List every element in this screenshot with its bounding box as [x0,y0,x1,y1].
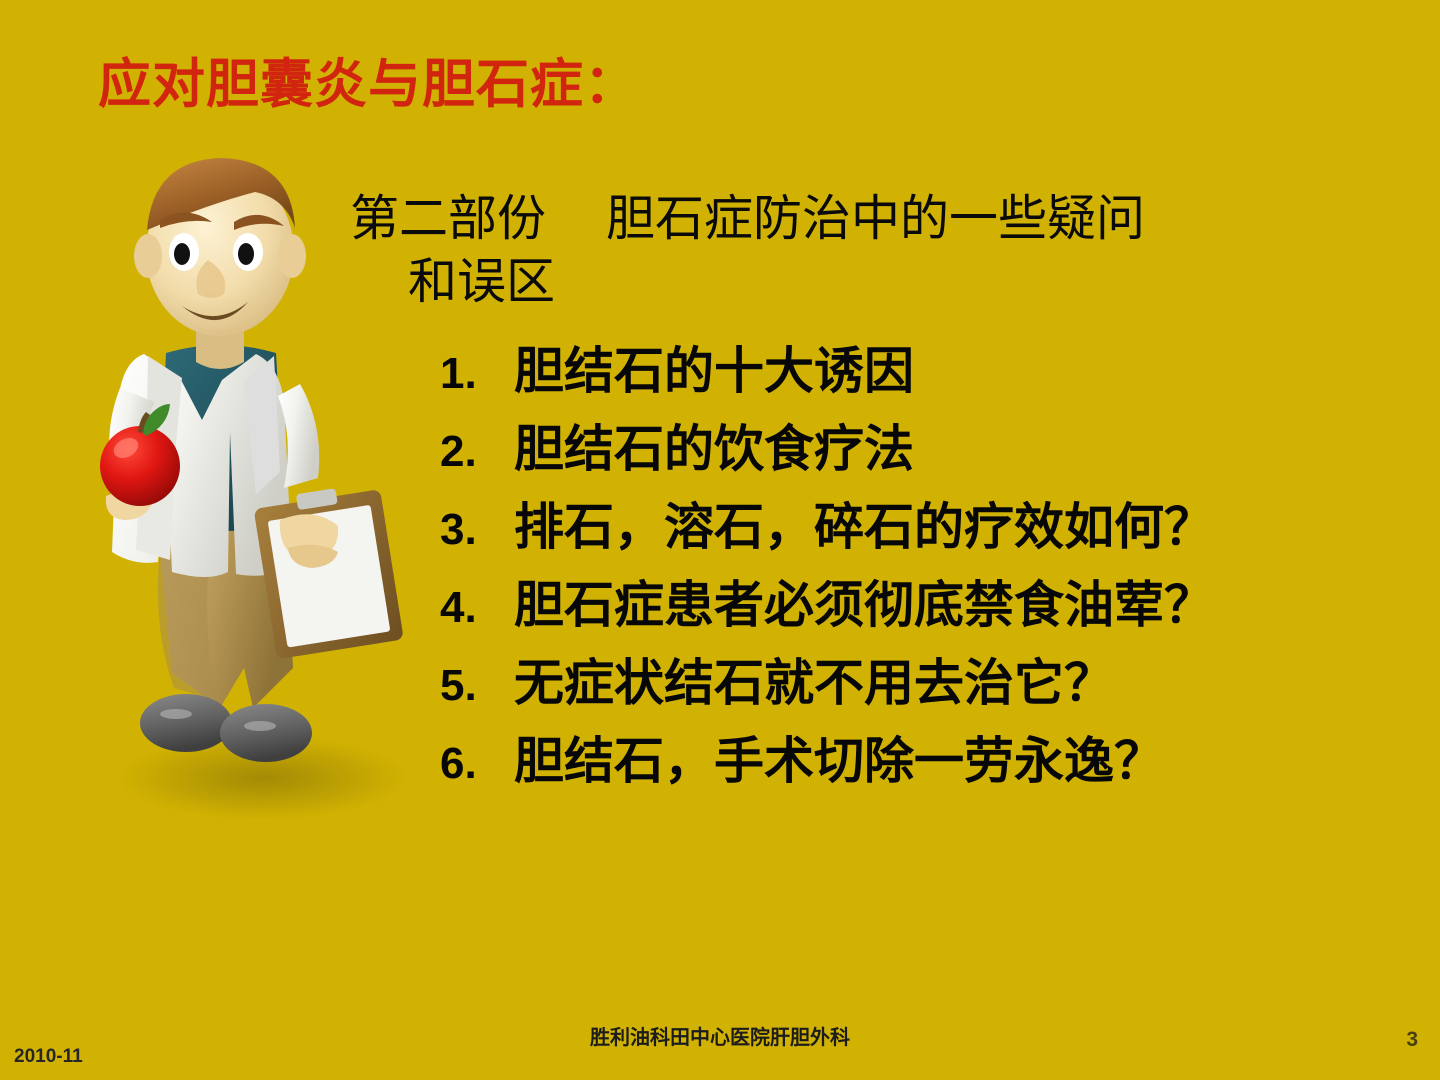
list-item-number: 5. [440,649,514,723]
footer-organization: 胜利油科田中心医院肝胆外科 [0,1021,1440,1050]
list-item: 2. 胆结石的饮食疗法 [440,412,1340,490]
list-item-label: 胆石症患者必须彻底禁食油荤？ [514,568,1214,642]
subtitle-part: 第二部份 [350,191,546,246]
list-item: 1. 胆结石的十大诱因 [440,334,1340,412]
subtitle-line2: 和误区 [350,251,1330,314]
subtitle-block: 第二部份胆石症防治中的一些疑问 和误区 [350,188,1330,313]
question-list: 1. 胆结石的十大诱因 2. 胆结石的饮食疗法 3. 排石，溶石，碎石的疗效如何… [440,334,1340,802]
ear-right [278,234,306,278]
list-item-label: 胆结石的饮食疗法 [514,412,914,486]
list-item-label: 胆结石的十大诱因 [514,334,914,408]
list-item-number: 4. [440,571,514,645]
list-item-label: 胆结石，手术切除一劳永逸？ [514,724,1164,798]
list-item-number: 1. [440,337,514,411]
list-item-label: 排石，溶石，碎石的疗效如何？ [514,490,1214,564]
list-item: 5. 无症状结石就不用去治它？ [440,646,1340,724]
list-item-label: 无症状结石就不用去治它？ [514,646,1114,720]
list-item: 3. 排石，溶石，碎石的疗效如何？ [440,490,1340,568]
list-item-number: 6. [440,727,514,801]
pupil-right [238,243,254,265]
subtitle-main: 胆石症防治中的一些疑问 [606,191,1145,246]
page-title: 应对胆囊炎与胆石症： [98,58,638,114]
slide-canvas: 应对胆囊炎与胆石症： [0,0,1440,1080]
apple [100,426,180,506]
pupil-left [174,243,190,265]
clipboard [252,481,403,659]
shoe-left [140,694,232,752]
list-item: 4. 胆石症患者必须彻底禁食油荤？ [440,568,1340,646]
shoe-right [220,704,312,762]
list-item: 6. 胆结石，手术切除一劳永逸？ [440,724,1340,802]
list-item-number: 3. [440,493,514,567]
list-item-number: 2. [440,415,514,489]
footer-page-number: 3 [1406,1028,1418,1052]
ear-left [134,234,162,278]
